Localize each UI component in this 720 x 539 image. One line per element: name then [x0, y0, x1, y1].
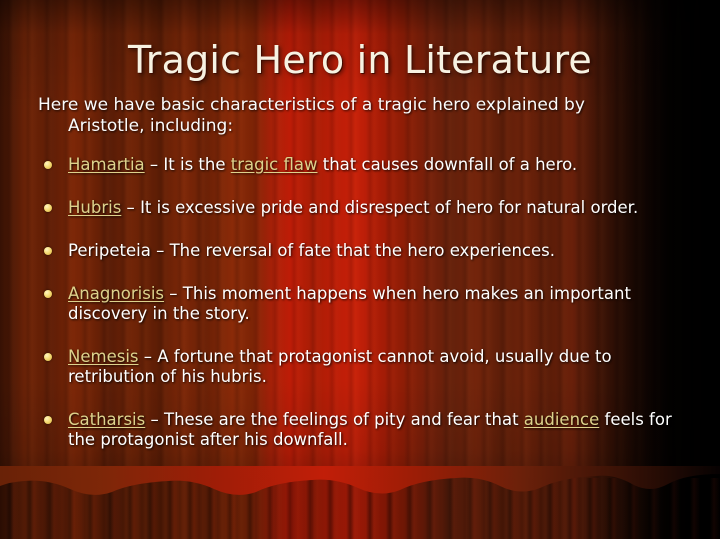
bullet-dot-icon [44, 290, 52, 298]
bullet-text-before-link: These are the feelings of pity and fear … [164, 410, 524, 429]
term-peripeteia: Peripeteia [68, 241, 151, 260]
term-anagnorisis[interactable]: Anagnorisis [68, 284, 164, 303]
term-nemesis[interactable]: Nemesis [68, 347, 139, 366]
bullet-dot-icon [44, 204, 52, 212]
list-item: Nemesis – A fortune that protagonist can… [40, 347, 688, 387]
bullet-dot-icon [44, 416, 52, 424]
list-item: Hubris – It is excessive pride and disre… [40, 198, 688, 218]
link-tragic-flaw[interactable]: tragic flaw [231, 155, 318, 174]
presentation-slide: Tragic Hero in Literature Here we have b… [0, 0, 720, 539]
bullet-dot-icon [44, 161, 52, 169]
bullet-dot-icon [44, 353, 52, 361]
list-item: Peripeteia – The reversal of fate that t… [40, 241, 688, 261]
list-item: Catharsis – These are the feelings of pi… [40, 410, 688, 450]
list-item: Hamartia – It is the tragic flaw that ca… [40, 155, 688, 175]
link-audience[interactable]: audience [524, 410, 599, 429]
bullet-list: Hamartia – It is the tragic flaw that ca… [40, 155, 688, 450]
bullet-dot-icon [44, 247, 52, 255]
dash-separator: – [139, 347, 158, 366]
list-item: Anagnorisis – This moment happens when h… [40, 284, 688, 324]
slide-content: Tragic Hero in Literature Here we have b… [0, 0, 720, 539]
dash-separator: – [145, 410, 164, 429]
term-hamartia[interactable]: Hamartia [68, 155, 145, 174]
subtitle-line-2: Aristotle, including: [38, 116, 658, 137]
subtitle-line-1: Here we have basic characteristics of a … [38, 95, 585, 115]
dash-separator: – [164, 284, 183, 303]
term-hubris[interactable]: Hubris [68, 198, 121, 217]
dash-separator: – [151, 241, 170, 260]
dash-separator: – [121, 198, 140, 217]
term-catharsis[interactable]: Catharsis [68, 410, 145, 429]
bullet-text: It is excessive pride and disrespect of … [140, 198, 638, 217]
bullet-text: The reversal of fate that the hero exper… [170, 241, 555, 260]
slide-subtitle: Here we have basic characteristics of a … [38, 95, 658, 137]
bullet-text-after-link: that causes downfall of a hero. [318, 155, 578, 174]
bullet-text-before-link: It is the [163, 155, 230, 174]
page-title: Tragic Hero in Literature [0, 38, 720, 82]
dash-separator: – [145, 155, 164, 174]
